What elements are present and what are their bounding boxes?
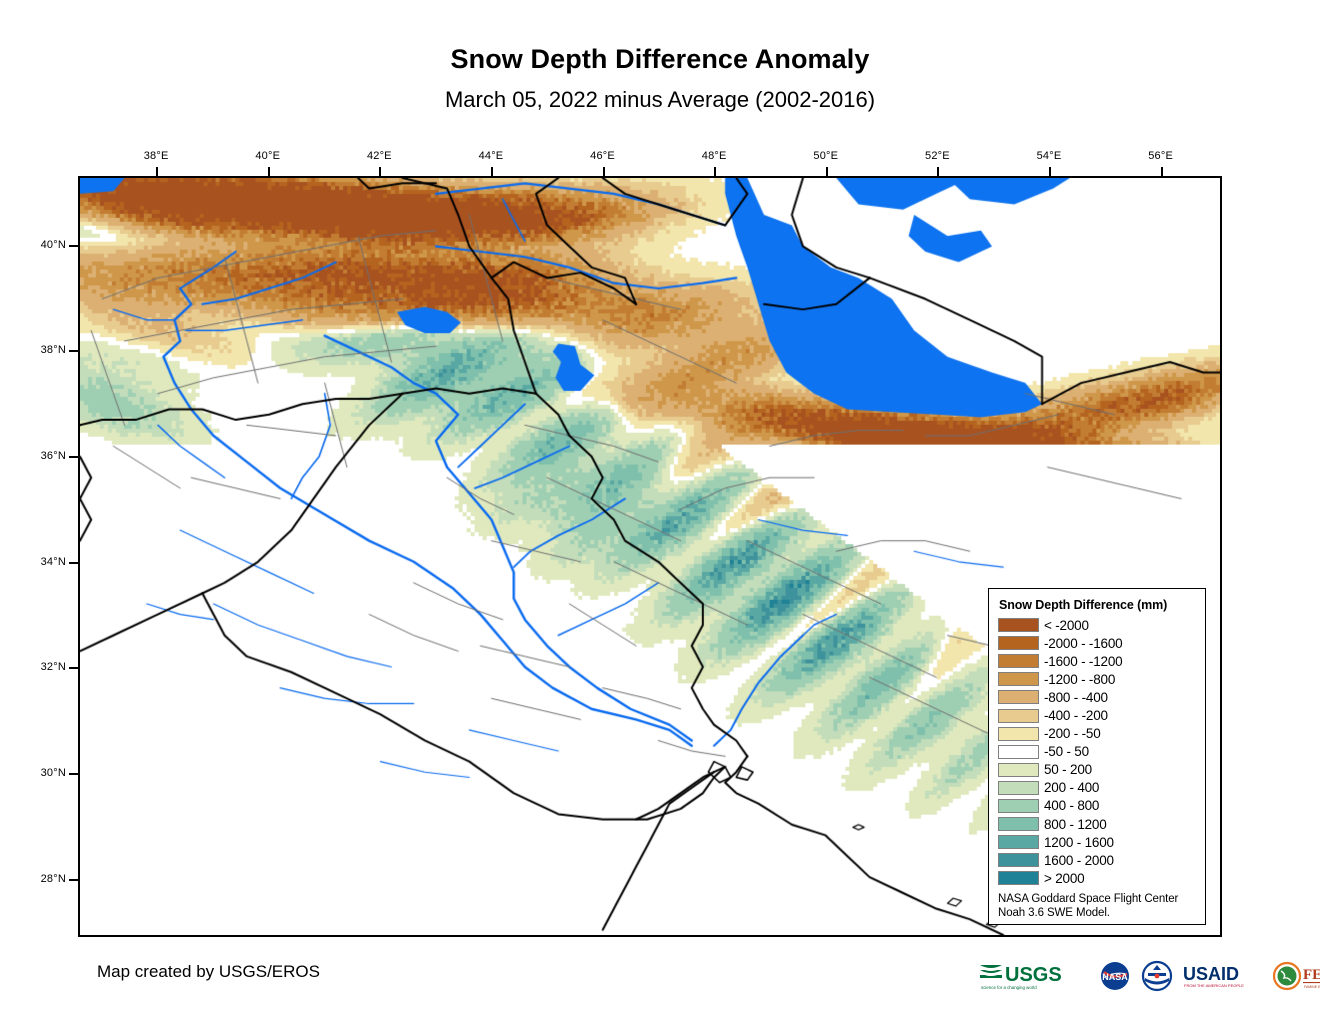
legend-entry: 1600 - 2000 — [998, 851, 1197, 869]
legend-label: -2000 - -1600 — [1044, 636, 1122, 651]
legend-entry: 50 - 200 — [998, 761, 1197, 779]
lon-tick-48 — [714, 167, 716, 176]
legend-label: 800 - 1200 — [1044, 817, 1107, 832]
legend-swatch — [998, 871, 1039, 885]
usgs-logo: USGS science for a changing world — [978, 959, 1090, 993]
legend-entry: 800 - 1200 — [998, 815, 1197, 833]
legend-swatch — [998, 727, 1039, 741]
legend-label: 200 - 400 — [1044, 780, 1099, 795]
legend-swatch — [998, 835, 1039, 849]
legend-entry: > 2000 — [998, 869, 1197, 887]
legend-label: 400 - 800 — [1044, 798, 1099, 813]
svg-text:NASA: NASA — [1102, 972, 1128, 982]
legend-credit-line-1: NASA Goddard Space Flight Center — [998, 893, 1197, 907]
legend-title: Snow Depth Difference (mm) — [999, 598, 1197, 612]
svg-text:FEWS NET: FEWS NET — [1303, 967, 1320, 983]
legend-credit: NASA Goddard Space Flight Center Noah 3.… — [998, 893, 1197, 920]
lon-label-56: 56°E — [1148, 150, 1173, 162]
footer-credit: Map created by USGS/EROS — [97, 962, 320, 982]
legend-swatch — [998, 799, 1039, 813]
noaa-logo — [1140, 959, 1174, 993]
lat-tick-40 — [69, 245, 78, 247]
legend-entry: -800 - -400 — [998, 688, 1197, 706]
lat-label-38: 38°N — [41, 344, 66, 356]
legend-entry: -2000 - -1600 — [998, 634, 1197, 652]
svg-text:science for a changing world: science for a changing world — [981, 985, 1037, 990]
lon-tick-44 — [491, 167, 493, 176]
lon-tick-46 — [603, 167, 605, 176]
svg-text:FAMINE EARLY WARNING SYSTEMS N: FAMINE EARLY WARNING SYSTEMS NETWORK — [1304, 985, 1320, 989]
page-title: Snow Depth Difference Anomaly — [0, 44, 1320, 75]
map-legend: Snow Depth Difference (mm) < -2000-2000 … — [988, 588, 1206, 925]
legend-entry: 400 - 800 — [998, 797, 1197, 815]
lat-label-30: 30°N — [41, 767, 66, 779]
lon-tick-42 — [379, 167, 381, 176]
legend-swatch — [998, 853, 1039, 867]
legend-swatch — [998, 636, 1039, 650]
legend-label: -1600 - -1200 — [1044, 654, 1122, 669]
lat-tick-34 — [69, 562, 78, 564]
lon-label-52: 52°E — [925, 150, 950, 162]
agency-logo-strip: USGS science for a changing world NASA U… — [978, 957, 1320, 995]
lon-tick-50 — [826, 167, 828, 176]
legend-entry: 1200 - 1600 — [998, 833, 1197, 851]
lon-label-46: 46°E — [590, 150, 615, 162]
legend-swatch — [998, 618, 1039, 632]
usaid-logo: USAID FROM THE AMERICAN PEOPLE — [1182, 959, 1264, 993]
lon-label-44: 44°E — [479, 150, 504, 162]
lon-tick-38 — [156, 167, 158, 176]
fewsnet-logo: FEWS NET FAMINE EARLY WARNING SYSTEMS NE… — [1272, 959, 1320, 993]
legend-label: -400 - -200 — [1044, 708, 1108, 723]
lon-tick-56 — [1161, 167, 1163, 176]
lat-label-34: 34°N — [41, 556, 66, 568]
lon-label-48: 48°E — [702, 150, 727, 162]
svg-text:FROM THE AMERICAN PEOPLE: FROM THE AMERICAN PEOPLE — [1184, 983, 1244, 988]
legend-label: -800 - -400 — [1044, 690, 1108, 705]
legend-swatch — [998, 745, 1039, 759]
legend-label: 1600 - 2000 — [1044, 853, 1114, 868]
lon-label-54: 54°E — [1037, 150, 1062, 162]
legend-entry: -1200 - -800 — [998, 670, 1197, 688]
legend-swatch — [998, 709, 1039, 723]
lon-label-40: 40°E — [255, 150, 280, 162]
legend-swatch — [998, 817, 1039, 831]
lon-tick-54 — [1049, 167, 1051, 176]
legend-label: < -2000 — [1044, 618, 1089, 633]
legend-label: -50 - 50 — [1044, 744, 1089, 759]
page-subtitle: March 05, 2022 minus Average (2002-2016) — [0, 87, 1320, 113]
legend-swatch — [998, 690, 1039, 704]
lat-label-28: 28°N — [41, 873, 66, 885]
legend-label: 50 - 200 — [1044, 762, 1092, 777]
legend-entry: < -2000 — [998, 616, 1197, 634]
lat-tick-30 — [69, 773, 78, 775]
lat-tick-38 — [69, 350, 78, 352]
svg-text:USGS: USGS — [1005, 964, 1062, 986]
lat-tick-36 — [69, 456, 78, 458]
lat-tick-28 — [69, 879, 78, 881]
legend-entry: -50 - 50 — [998, 743, 1197, 761]
legend-swatch — [998, 654, 1039, 668]
lon-label-42: 42°E — [367, 150, 392, 162]
legend-label: > 2000 — [1044, 871, 1084, 886]
lat-label-40: 40°N — [41, 239, 66, 251]
lon-tick-40 — [268, 167, 270, 176]
legend-entry: -200 - -50 — [998, 725, 1197, 743]
lon-tick-52 — [937, 167, 939, 176]
legend-entry-list: < -2000-2000 - -1600-1600 - -1200-1200 -… — [998, 616, 1197, 887]
lon-label-38: 38°E — [144, 150, 169, 162]
legend-entry: -400 - -200 — [998, 706, 1197, 724]
legend-label: -1200 - -800 — [1044, 672, 1115, 687]
legend-label: -200 - -50 — [1044, 726, 1101, 741]
legend-swatch — [998, 781, 1039, 795]
legend-entry: -1600 - -1200 — [998, 652, 1197, 670]
legend-credit-line-2: Noah 3.6 SWE Model. — [998, 907, 1197, 921]
legend-swatch — [998, 763, 1039, 777]
svg-text:USAID: USAID — [1183, 964, 1239, 984]
lon-label-50: 50°E — [813, 150, 838, 162]
legend-entry: 200 - 400 — [998, 779, 1197, 797]
lat-label-32: 32°N — [41, 661, 66, 673]
lat-label-36: 36°N — [41, 450, 66, 462]
lat-tick-32 — [69, 667, 78, 669]
legend-swatch — [998, 672, 1039, 686]
legend-label: 1200 - 1600 — [1044, 835, 1114, 850]
nasa-logo: NASA — [1098, 959, 1132, 993]
